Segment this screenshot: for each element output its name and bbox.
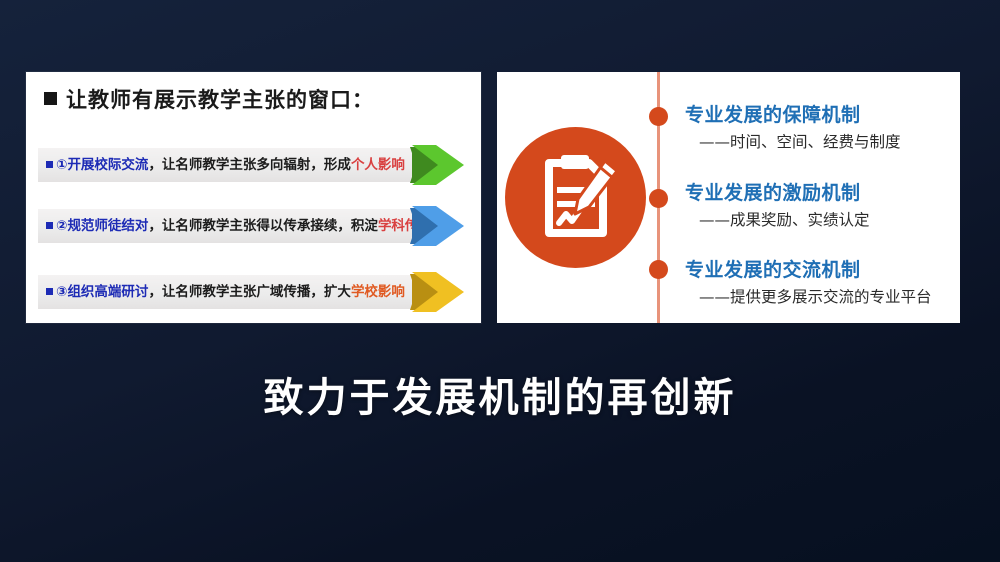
timeline-item-title-1: 专业发展的保障机制 — [685, 100, 901, 127]
step-arrow-2 — [408, 202, 466, 250]
step-text-1: ①开展校际交流，让名师教学主张多向辐射，形成个人影响 — [46, 148, 405, 182]
step-text-3: ③组织高端研讨，让名师教学主张广域传播，扩大学校影响 — [46, 275, 405, 309]
clipboard-pen-icon — [505, 127, 646, 268]
step-bullet-icon-3 — [46, 288, 53, 295]
timeline-item-2: 专业发展的激励机制 ——成果奖励、实绩认定 — [685, 178, 870, 230]
left-panel-heading: 让教师有展示教学主张的窗口： — [44, 84, 374, 114]
timeline-item-subtitle-1: ——时间、空间、经费与制度 — [699, 130, 901, 152]
step-bullet-icon-1 — [46, 161, 53, 168]
step-arrow-3 — [408, 268, 466, 316]
timeline-item-3: 专业发展的交流机制 ——提供更多展示交流的专业平台 — [685, 255, 932, 307]
timeline-item-title-3: 专业发展的交流机制 — [685, 255, 932, 282]
timeline-item-title-2: 专业发展的激励机制 — [685, 178, 870, 205]
step-middle-1: ，让名师教学主张多向辐射，形成 — [148, 157, 351, 173]
timeline-dot-3 — [649, 260, 668, 279]
step-arrow-1 — [408, 141, 466, 189]
right-content-panel: 专业发展的保障机制 ——时间、空间、经费与制度 专业发展的激励机制 ——成果奖励… — [497, 72, 960, 323]
step-index-3: ③ — [56, 284, 67, 300]
step-lead-3: 组织高端研讨 — [67, 284, 148, 300]
left-heading-text: 让教师有展示教学主张的窗口： — [66, 87, 374, 112]
step-middle-2: ，让名师教学主张得以传承接续，积淀 — [148, 218, 378, 234]
timeline-dot-1 — [649, 107, 668, 126]
step-index-1: ① — [56, 157, 67, 173]
timeline-item-1: 专业发展的保障机制 ——时间、空间、经费与制度 — [685, 100, 901, 152]
step-index-2: ② — [56, 218, 67, 234]
step-lead-2: 规范师徒结对 — [67, 218, 148, 234]
step-row-2[interactable]: ②规范师徒结对，让名师教学主张得以传承接续，积淀学科传统 — [26, 209, 481, 243]
step-bullet-icon-2 — [46, 222, 53, 229]
square-bullet-icon — [44, 92, 57, 105]
step-middle-3: ，让名师教学主张广域传播，扩大 — [148, 284, 351, 300]
timeline-item-subtitle-2: ——成果奖励、实绩认定 — [699, 208, 870, 230]
step-lead-1: 开展校际交流 — [67, 157, 148, 173]
step-text-2: ②规范师徒结对，让名师教学主张得以传承接续，积淀学科传统 — [46, 209, 432, 243]
step-highlight-3: 学校影响 — [351, 284, 405, 300]
step-highlight-1: 个人影响 — [351, 157, 405, 173]
timeline-item-subtitle-3: ——提供更多展示交流的专业平台 — [699, 285, 932, 307]
timeline-dot-2 — [649, 189, 668, 208]
step-row-3[interactable]: ③组织高端研讨，让名师教学主张广域传播，扩大学校影响 — [26, 275, 481, 309]
left-content-panel: 让教师有展示教学主张的窗口： ①开展校际交流，让名师教学主张多向辐射，形成个人影… — [26, 72, 481, 323]
step-row-1[interactable]: ①开展校际交流，让名师教学主张多向辐射，形成个人影响 — [26, 148, 481, 182]
slide-canvas: 让教师有展示教学主张的窗口： ①开展校际交流，让名师教学主张多向辐射，形成个人影… — [0, 0, 1000, 562]
slide-bottom-title: 致力于发展机制的再创新 — [0, 365, 1000, 423]
